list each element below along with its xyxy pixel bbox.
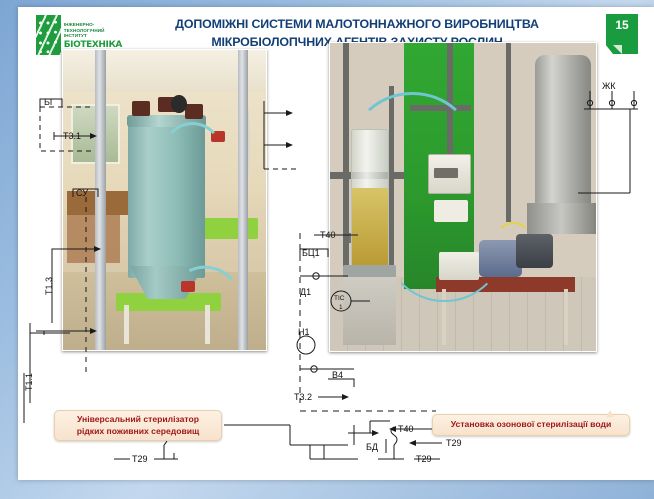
caption-left-line-2: рідких поживних середовищ [62, 426, 214, 438]
page-number-badge: 15 [606, 14, 638, 54]
label-v4: В4 [332, 370, 343, 380]
label-bc1: БЦ1 [302, 248, 320, 258]
caption-left-pointer [116, 434, 124, 441]
label-t11: Т1.1 [24, 373, 34, 391]
label-t13: Т1.3 [44, 277, 54, 295]
slide-canvas: ІНЖЕНЕРНО- ТЕХНОЛОГІЧНИЙ ІНСТИТУТ БІОТЕХ… [18, 7, 654, 480]
caption-sterilizer: Універсальний стерилізатор рідких поживн… [54, 410, 222, 441]
caption-left-line-1: Універсальний стерилізатор [62, 414, 214, 426]
label-tic: TIC [334, 295, 345, 302]
label-zhk: ЖК [602, 81, 616, 91]
label-t29-a: Т29 [132, 454, 148, 464]
label-su: СУ [76, 188, 88, 198]
label-t29-c: Т29 [416, 454, 432, 464]
label-t29-b: Т29 [446, 438, 462, 448]
caption-ozone-unit: Установка озонової стерилізації води [432, 414, 630, 436]
logo-line-3: ІНСТИТУТ [64, 33, 122, 39]
label-t40-b: Т40 [320, 230, 336, 240]
label-t40-c: Т40 [398, 424, 414, 434]
label-t31: Т3.1 [63, 131, 81, 141]
label-d1: Д1 [300, 287, 311, 297]
label-h1: Н1 [298, 327, 310, 337]
title-line-1: ДОПОМІЖНІ СИСТЕМИ МАЛОТОННАЖНОГО ВИРОБНИ… [126, 15, 588, 33]
label-bg: БГ [44, 97, 55, 107]
leaf-grid-icon [36, 15, 61, 55]
caption-right-pointer [606, 410, 614, 417]
label-bd: БД [366, 442, 378, 452]
label-tic-num: 1 [339, 304, 343, 311]
label-t32: Т3.2 [294, 392, 312, 402]
